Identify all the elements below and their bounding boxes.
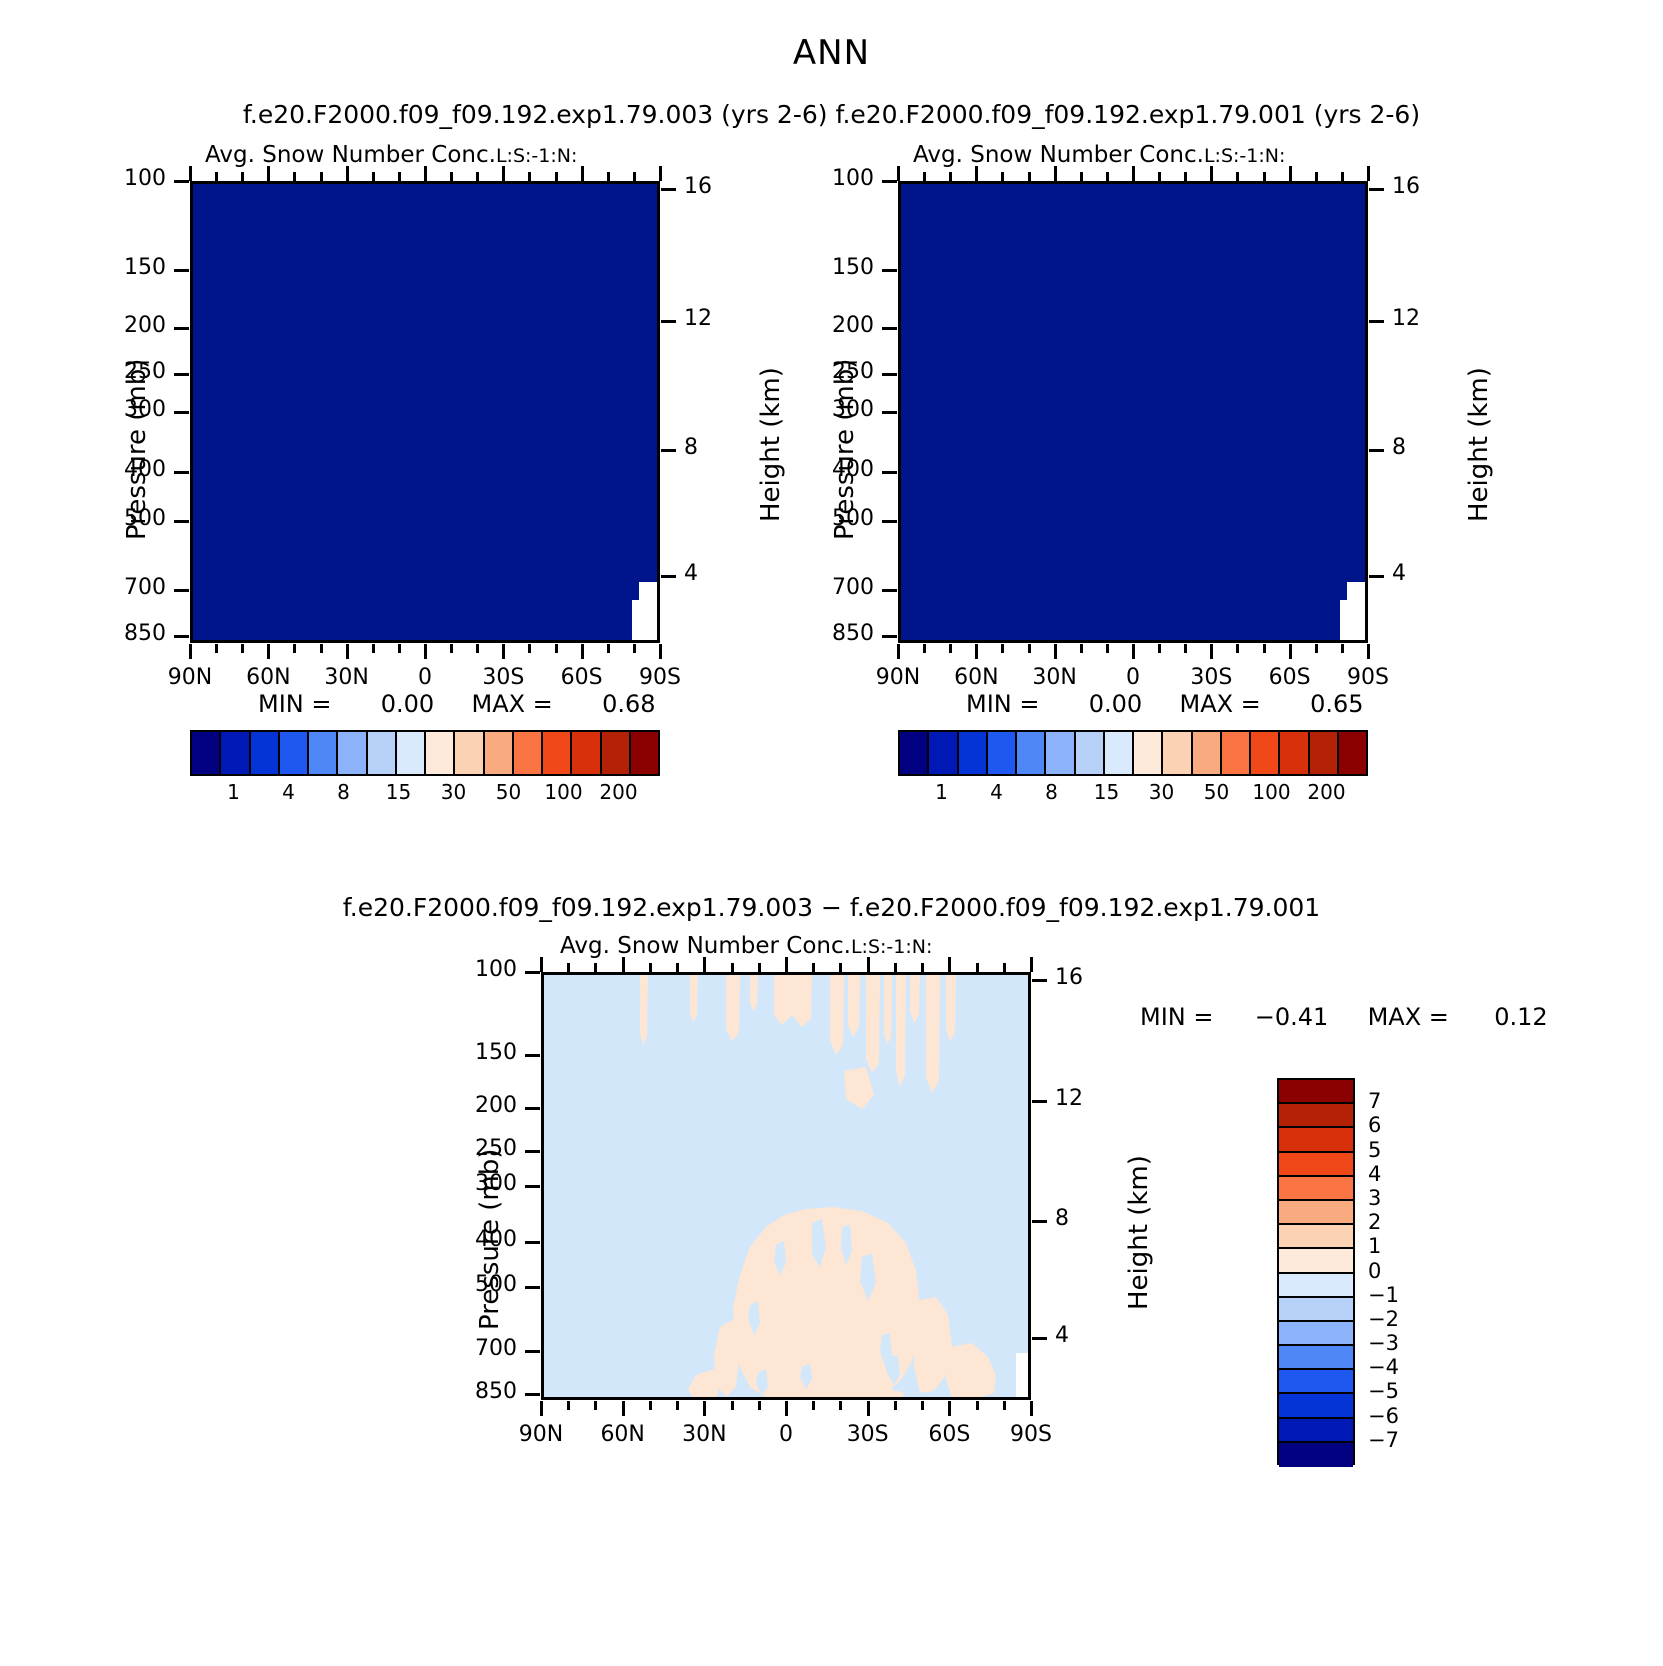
y-tick-major bbox=[174, 520, 189, 523]
y-tick-major bbox=[882, 589, 897, 592]
nodata-wedge bbox=[1347, 582, 1365, 640]
colorbar-cell[interactable] bbox=[426, 732, 455, 774]
colorbar-cell[interactable] bbox=[1280, 732, 1309, 774]
legend-cell[interactable] bbox=[1279, 1201, 1353, 1225]
panel-subtitle-diff: Avg. Snow Number Conc.L:S:-1:N: bbox=[560, 933, 932, 959]
x-tick-minor bbox=[450, 644, 453, 653]
x-tick-minor bbox=[1315, 644, 1318, 653]
y-tick-major bbox=[174, 411, 189, 414]
colorbar-cell[interactable] bbox=[1105, 732, 1134, 774]
x-tick-major-top bbox=[1132, 166, 1135, 181]
colorbar-cell[interactable] bbox=[572, 732, 601, 774]
y-tick-label: 100 bbox=[317, 957, 517, 982]
y-tick-label: 200 bbox=[674, 313, 874, 338]
legend-cell[interactable] bbox=[1279, 1177, 1353, 1201]
x-tick-label: 90S bbox=[1268, 665, 1468, 690]
min-label-top-right: MIN = bbox=[966, 690, 1039, 718]
y-tick-major bbox=[525, 1350, 540, 1353]
legend-cell[interactable] bbox=[1279, 1346, 1353, 1370]
x-tick-minor-top bbox=[567, 963, 570, 972]
x-tick-major-top bbox=[867, 957, 870, 972]
colorbar-labels-top-left: 148153050100200 bbox=[206, 780, 646, 804]
legend-cell[interactable] bbox=[1279, 1443, 1353, 1467]
x-tick-minor bbox=[1341, 644, 1344, 653]
y2-tick-label: 12 bbox=[1392, 306, 1420, 331]
colorbar-tick-label: 1 bbox=[206, 780, 261, 804]
x-tick-minor-top bbox=[1184, 172, 1187, 181]
x-tick-minor bbox=[398, 644, 401, 653]
x-tick-major-top bbox=[897, 166, 900, 181]
colorbar-tick-label: 30 bbox=[426, 780, 481, 804]
colorbar-tick-label: 8 bbox=[316, 780, 371, 804]
y-tick-major bbox=[882, 411, 897, 414]
colorbar-cell[interactable] bbox=[1193, 732, 1222, 774]
x-tick-major-top bbox=[540, 957, 543, 972]
y2-tick-label: 16 bbox=[1392, 174, 1420, 199]
x-tick-minor-top bbox=[241, 172, 244, 181]
legend-cell[interactable] bbox=[1279, 1419, 1353, 1443]
colorbar-tick-label: 15 bbox=[371, 780, 426, 804]
x-tick-minor-top bbox=[1028, 172, 1031, 181]
variable-suffix-top-left: L:S:-1:N: bbox=[496, 145, 577, 167]
x-tick-major-top bbox=[948, 957, 951, 972]
y-tick-major bbox=[174, 269, 189, 272]
x-tick-major-top bbox=[346, 166, 349, 181]
x-tick-minor-top bbox=[923, 172, 926, 181]
x-tick-major bbox=[1132, 644, 1135, 659]
x-tick-minor bbox=[1106, 644, 1109, 653]
x-tick-minor bbox=[476, 644, 479, 653]
x-tick-minor-top bbox=[758, 963, 761, 972]
y2-tick-label: 4 bbox=[1392, 561, 1406, 586]
x-tick-major-top bbox=[703, 957, 706, 972]
y2-tick-major bbox=[1369, 449, 1384, 452]
y-tick-major bbox=[525, 1286, 540, 1289]
x-tick-minor-top bbox=[949, 172, 952, 181]
y-tick-label: 150 bbox=[674, 255, 874, 280]
y-tick-major bbox=[525, 1054, 540, 1057]
colorbar-tick-label: 4 bbox=[261, 780, 316, 804]
x-tick-minor bbox=[1158, 644, 1161, 653]
x-tick-major bbox=[622, 1401, 625, 1416]
y2-tick-label: 4 bbox=[1055, 1323, 1069, 1348]
x-tick-minor bbox=[241, 644, 244, 653]
x-tick-minor-top bbox=[1080, 172, 1083, 181]
x-tick-major bbox=[659, 644, 662, 659]
x-tick-minor bbox=[812, 1401, 815, 1410]
legend-cell[interactable] bbox=[1279, 1104, 1353, 1128]
max-value-top-right: 0.65 bbox=[1310, 690, 1363, 718]
x-tick-minor bbox=[215, 644, 218, 653]
y-tick-major bbox=[525, 1150, 540, 1153]
x-tick-major-top bbox=[1289, 166, 1292, 181]
x-tick-minor bbox=[607, 644, 610, 653]
colorbar-tick-label: 1 bbox=[914, 780, 969, 804]
y-tick-major bbox=[525, 1393, 540, 1396]
plot-area-diff[interactable] bbox=[541, 972, 1031, 1400]
x-tick-minor-top bbox=[839, 963, 842, 972]
x-tick-label: 90S bbox=[560, 665, 760, 690]
x-tick-minor bbox=[676, 1401, 679, 1410]
x-tick-minor-top bbox=[1001, 172, 1004, 181]
x-tick-major bbox=[1289, 644, 1292, 659]
max-label-top-right: MAX = bbox=[1179, 690, 1260, 718]
plot-area-top-left[interactable] bbox=[190, 181, 660, 643]
y-axis-title-left-top-left: Pressure (mb) bbox=[122, 359, 152, 540]
x-tick-major bbox=[897, 644, 900, 659]
x-tick-major bbox=[189, 644, 192, 659]
x-tick-major bbox=[581, 644, 584, 659]
y2-tick-label: 16 bbox=[1055, 965, 1083, 990]
x-tick-major-top bbox=[267, 166, 270, 181]
y-axis-title-right-top-left: Height (km) bbox=[756, 367, 786, 522]
x-tick-minor bbox=[949, 644, 952, 653]
y-tick-major bbox=[174, 635, 189, 638]
colorbar-cell[interactable] bbox=[1076, 732, 1105, 774]
x-tick-minor bbox=[633, 644, 636, 653]
x-tick-major bbox=[948, 1401, 951, 1416]
legend-cell[interactable] bbox=[1279, 1153, 1353, 1177]
x-tick-minor bbox=[1001, 644, 1004, 653]
x-tick-minor-top bbox=[921, 963, 924, 972]
x-tick-minor bbox=[923, 644, 926, 653]
y-tick-major bbox=[882, 373, 897, 376]
y-tick-label: 850 bbox=[317, 1379, 517, 1404]
y-tick-major bbox=[882, 269, 897, 272]
y-tick-major bbox=[174, 180, 189, 183]
max-value-diff: 0.12 bbox=[1494, 1003, 1547, 1031]
x-tick-major-top bbox=[1367, 166, 1370, 181]
y2-tick-major bbox=[1369, 320, 1384, 323]
y2-tick-major bbox=[1369, 575, 1384, 578]
colorbar-cell[interactable] bbox=[485, 732, 514, 774]
variable-title-diff: Avg. Snow Number Conc. bbox=[560, 933, 851, 959]
legend-tick-label: 6 bbox=[1368, 1113, 1381, 1137]
x-tick-minor bbox=[649, 1401, 652, 1410]
variable-suffix-diff: L:S:-1:N: bbox=[851, 936, 932, 958]
x-tick-minor bbox=[839, 1401, 842, 1410]
legend-cell[interactable] bbox=[1279, 1394, 1353, 1418]
y-tick-label: 150 bbox=[0, 255, 166, 280]
colorbar-cell[interactable] bbox=[929, 732, 958, 774]
colorbar-labels-top-right: 148153050100200 bbox=[914, 780, 1354, 804]
colorbar-cell[interactable] bbox=[338, 732, 367, 774]
y-axis-title-left-diff: Pressure (mb) bbox=[475, 1149, 505, 1330]
x-tick-major-top bbox=[1030, 957, 1033, 972]
x-tick-minor-top bbox=[1106, 172, 1109, 181]
case-title-diff: f.e20.F2000.f09_f09.192.exp1.79.003 − f.… bbox=[0, 893, 1663, 922]
y-tick-label: 200 bbox=[317, 1093, 517, 1118]
x-tick-minor-top bbox=[476, 172, 479, 181]
min-value-diff: −0.41 bbox=[1255, 1003, 1329, 1031]
legend-tick-label: −6 bbox=[1368, 1404, 1399, 1428]
max-label-top-left: MAX = bbox=[471, 690, 552, 718]
colorbar-cell[interactable] bbox=[280, 732, 309, 774]
x-tick-minor-top bbox=[528, 172, 531, 181]
x-tick-minor bbox=[594, 1401, 597, 1410]
x-tick-minor bbox=[921, 1401, 924, 1410]
x-tick-major bbox=[1210, 644, 1213, 659]
x-tick-minor-top bbox=[894, 963, 897, 972]
legend-tick-label: 3 bbox=[1368, 1186, 1381, 1210]
colorbar-cell[interactable] bbox=[1017, 732, 1046, 774]
diff-contour-svg bbox=[544, 975, 1030, 1399]
x-tick-major bbox=[1054, 644, 1057, 659]
y-tick-label: 700 bbox=[317, 1336, 517, 1361]
legend-tick-label: −7 bbox=[1368, 1428, 1399, 1452]
colorbar-tick-label: 50 bbox=[481, 780, 536, 804]
x-tick-minor bbox=[320, 644, 323, 653]
y-tick-label: 700 bbox=[0, 575, 166, 600]
figure-main-title: ANN bbox=[0, 33, 1663, 73]
colorbar-cell[interactable] bbox=[900, 732, 929, 774]
x-tick-minor-top bbox=[555, 172, 558, 181]
min-label-top-left: MIN = bbox=[258, 690, 331, 718]
y2-tick-major bbox=[1032, 1100, 1047, 1103]
min-value-top-right: 0.00 bbox=[1089, 690, 1142, 718]
y-tick-major bbox=[525, 971, 540, 974]
minmax-top-right: MIN = 0.00 MAX = 0.65 bbox=[966, 690, 1364, 718]
x-tick-major-top bbox=[659, 166, 662, 181]
x-tick-minor bbox=[758, 1401, 761, 1410]
y-tick-major bbox=[525, 1241, 540, 1244]
colorbar-cell[interactable] bbox=[1339, 732, 1366, 774]
y-tick-major bbox=[882, 471, 897, 474]
x-tick-minor-top bbox=[450, 172, 453, 181]
nodata-wedge bbox=[639, 582, 657, 640]
x-tick-minor bbox=[731, 1401, 734, 1410]
y-tick-label: 100 bbox=[674, 166, 874, 191]
y-tick-label: 200 bbox=[0, 313, 166, 338]
x-tick-major-top bbox=[785, 957, 788, 972]
colorbar-cell[interactable] bbox=[1251, 732, 1280, 774]
x-tick-major bbox=[540, 1401, 543, 1416]
x-tick-minor-top bbox=[1003, 963, 1006, 972]
min-label-diff: MIN = bbox=[1140, 1003, 1213, 1031]
y-tick-label: 150 bbox=[317, 1040, 517, 1065]
case-title-left: f.e20.F2000.f09_f09.192.exp1.79.003 (yrs… bbox=[243, 100, 828, 129]
legend-cell[interactable] bbox=[1279, 1274, 1353, 1298]
x-tick-minor bbox=[1028, 644, 1031, 653]
variable-title-top-left: Avg. Snow Number Conc. bbox=[205, 142, 496, 168]
colorbar-cell[interactable] bbox=[309, 732, 338, 774]
colorbar-cell[interactable] bbox=[959, 732, 988, 774]
panel-subtitle-top-right: Avg. Snow Number Conc.L:S:-1:N: bbox=[913, 142, 1285, 168]
y-tick-major bbox=[174, 373, 189, 376]
x-tick-major bbox=[785, 1401, 788, 1416]
colorbar-cell[interactable] bbox=[1163, 732, 1192, 774]
colorbar-cell[interactable] bbox=[631, 732, 658, 774]
x-tick-minor bbox=[1263, 644, 1266, 653]
x-tick-major bbox=[1030, 1401, 1033, 1416]
x-tick-minor-top bbox=[398, 172, 401, 181]
legend-tick-label: −3 bbox=[1368, 1331, 1399, 1355]
legend-cell[interactable] bbox=[1279, 1225, 1353, 1249]
max-value-top-left: 0.68 bbox=[602, 690, 655, 718]
colorbar-cell[interactable] bbox=[251, 732, 280, 774]
x-tick-minor bbox=[293, 644, 296, 653]
colorbar-tick-label: 200 bbox=[1299, 780, 1354, 804]
x-tick-label: 90S bbox=[931, 1422, 1131, 1447]
colorbar-cell[interactable] bbox=[1046, 732, 1075, 774]
x-tick-major bbox=[346, 644, 349, 659]
y2-tick-major bbox=[661, 449, 676, 452]
x-tick-minor bbox=[567, 1401, 570, 1410]
x-tick-minor bbox=[555, 644, 558, 653]
legend-tick-label: −4 bbox=[1368, 1355, 1399, 1379]
colorbar-tick-label: 8 bbox=[1024, 780, 1079, 804]
x-tick-minor-top bbox=[215, 172, 218, 181]
x-tick-minor-top bbox=[594, 963, 597, 972]
case-titles-row: f.e20.F2000.f09_f09.192.exp1.79.003 (yrs… bbox=[0, 100, 1663, 129]
y-tick-major bbox=[174, 589, 189, 592]
x-tick-minor-top bbox=[1341, 172, 1344, 181]
case-title-right: f.e20.F2000.f09_f09.192.exp1.79.001 (yrs… bbox=[835, 100, 1420, 129]
x-tick-major-top bbox=[189, 166, 192, 181]
x-tick-major-top bbox=[1054, 166, 1057, 181]
x-tick-minor-top bbox=[1315, 172, 1318, 181]
y-tick-major bbox=[882, 180, 897, 183]
x-tick-minor-top bbox=[633, 172, 636, 181]
minmax-top-left: MIN = 0.00 MAX = 0.68 bbox=[258, 690, 656, 718]
x-tick-minor-top bbox=[976, 963, 979, 972]
y-tick-label: 850 bbox=[674, 621, 874, 646]
colorbar-cell[interactable] bbox=[368, 732, 397, 774]
colorbar-cell[interactable] bbox=[221, 732, 250, 774]
colorbar-tick-label: 30 bbox=[1134, 780, 1189, 804]
colorbar-cell[interactable] bbox=[602, 732, 631, 774]
colorbar-top-left[interactable] bbox=[190, 730, 660, 776]
y-tick-major bbox=[882, 635, 897, 638]
min-value-top-left: 0.00 bbox=[381, 690, 434, 718]
nodata-wedge bbox=[1016, 1353, 1030, 1399]
x-tick-major-top bbox=[581, 166, 584, 181]
minmax-diff: MIN = −0.41 MAX = 0.12 bbox=[1140, 1003, 1548, 1031]
legend-cell[interactable] bbox=[1279, 1322, 1353, 1346]
x-tick-minor-top bbox=[649, 963, 652, 972]
plot-area-top-right[interactable] bbox=[898, 181, 1368, 643]
x-tick-minor-top bbox=[1236, 172, 1239, 181]
y-tick-major bbox=[882, 520, 897, 523]
x-tick-minor-top bbox=[1158, 172, 1161, 181]
colorbar-tick-label: 100 bbox=[1244, 780, 1299, 804]
panel-subtitle-top-left: Avg. Snow Number Conc.L:S:-1:N: bbox=[205, 142, 577, 168]
y-tick-label: 700 bbox=[674, 575, 874, 600]
legend-cell[interactable] bbox=[1279, 1128, 1353, 1152]
colorbar-cell[interactable] bbox=[514, 732, 543, 774]
y-tick-label: 850 bbox=[0, 621, 166, 646]
legend-tick-label: −5 bbox=[1368, 1379, 1399, 1403]
y-tick-major bbox=[882, 327, 897, 330]
legend-cell[interactable] bbox=[1279, 1249, 1353, 1273]
x-tick-minor bbox=[1003, 1401, 1006, 1410]
x-tick-minor bbox=[976, 1401, 979, 1410]
legend-cell[interactable] bbox=[1279, 1080, 1353, 1104]
x-tick-minor-top bbox=[607, 172, 610, 181]
x-tick-minor bbox=[1236, 644, 1239, 653]
legend-tick-label: −2 bbox=[1368, 1307, 1399, 1331]
y2-tick-major bbox=[1032, 1337, 1047, 1340]
y-axis-title-right-diff: Height (km) bbox=[1124, 1155, 1154, 1310]
x-tick-major bbox=[502, 644, 505, 659]
colorbar-vertical-diff[interactable] bbox=[1277, 1078, 1355, 1465]
legend-tick-label: 0 bbox=[1368, 1259, 1381, 1283]
colorbar-top-right[interactable] bbox=[898, 730, 1368, 776]
x-tick-major-top bbox=[502, 166, 505, 181]
colorbar-cell[interactable] bbox=[1222, 732, 1251, 774]
colorbar-cell[interactable] bbox=[1134, 732, 1163, 774]
x-tick-major bbox=[867, 1401, 870, 1416]
x-tick-major-top bbox=[622, 957, 625, 972]
colorbar-cell[interactable] bbox=[1310, 732, 1339, 774]
variable-suffix-top-right: L:S:-1:N: bbox=[1204, 145, 1285, 167]
x-tick-minor-top bbox=[1263, 172, 1266, 181]
legend-cell[interactable] bbox=[1279, 1370, 1353, 1394]
nodata-wedge-step bbox=[632, 600, 639, 640]
x-tick-minor-top bbox=[293, 172, 296, 181]
y2-tick-major bbox=[1032, 979, 1047, 982]
x-tick-minor bbox=[528, 644, 531, 653]
x-tick-minor-top bbox=[812, 963, 815, 972]
colorbar-cell[interactable] bbox=[397, 732, 426, 774]
max-label-diff: MAX = bbox=[1368, 1003, 1449, 1031]
colorbar-cell[interactable] bbox=[455, 732, 484, 774]
colorbar-tick-label: 100 bbox=[536, 780, 591, 804]
x-tick-minor bbox=[1080, 644, 1083, 653]
y2-tick-label: 8 bbox=[1392, 435, 1406, 460]
y-tick-major bbox=[525, 1185, 540, 1188]
legend-tick-label: 2 bbox=[1368, 1210, 1381, 1234]
colorbar-tick-label: 50 bbox=[1189, 780, 1244, 804]
y-axis-title-right-top-right: Height (km) bbox=[1464, 367, 1494, 522]
legend-tick-label: 7 bbox=[1368, 1089, 1381, 1113]
x-tick-major-top bbox=[1210, 166, 1213, 181]
x-tick-major bbox=[703, 1401, 706, 1416]
y2-tick-label: 12 bbox=[1055, 1086, 1083, 1111]
y-tick-label: 100 bbox=[0, 166, 166, 191]
y-tick-major bbox=[525, 1107, 540, 1110]
colorbar-cell[interactable] bbox=[988, 732, 1017, 774]
x-tick-major bbox=[424, 644, 427, 659]
legend-tick-label: 5 bbox=[1368, 1138, 1381, 1162]
x-tick-major bbox=[1367, 644, 1370, 659]
x-tick-minor-top bbox=[320, 172, 323, 181]
x-tick-minor-top bbox=[676, 963, 679, 972]
x-tick-major-top bbox=[424, 166, 427, 181]
x-tick-major bbox=[975, 644, 978, 659]
y-tick-major bbox=[174, 471, 189, 474]
x-tick-minor bbox=[894, 1401, 897, 1410]
legend-cell[interactable] bbox=[1279, 1298, 1353, 1322]
y-axis-title-left-top-right: Pressure (mb) bbox=[830, 359, 860, 540]
x-tick-minor bbox=[372, 644, 375, 653]
y-tick-major bbox=[174, 327, 189, 330]
y2-tick-major bbox=[1369, 188, 1384, 191]
x-tick-major-top bbox=[975, 166, 978, 181]
colorbar-cell[interactable] bbox=[543, 732, 572, 774]
nodata-wedge-step bbox=[1340, 600, 1347, 640]
colorbar-tick-label: 15 bbox=[1079, 780, 1134, 804]
colorbar-tick-label: 200 bbox=[591, 780, 646, 804]
colorbar-cell[interactable] bbox=[192, 732, 221, 774]
x-tick-major bbox=[267, 644, 270, 659]
colorbar-tick-label: 4 bbox=[969, 780, 1024, 804]
x-tick-minor-top bbox=[372, 172, 375, 181]
x-tick-minor bbox=[1184, 644, 1187, 653]
colorbar-vertical-labels-diff: 76543210−1−2−3−4−5−6−7 bbox=[1368, 1078, 1438, 1465]
legend-tick-label: 4 bbox=[1368, 1162, 1381, 1186]
variable-title-top-right: Avg. Snow Number Conc. bbox=[913, 142, 1204, 168]
